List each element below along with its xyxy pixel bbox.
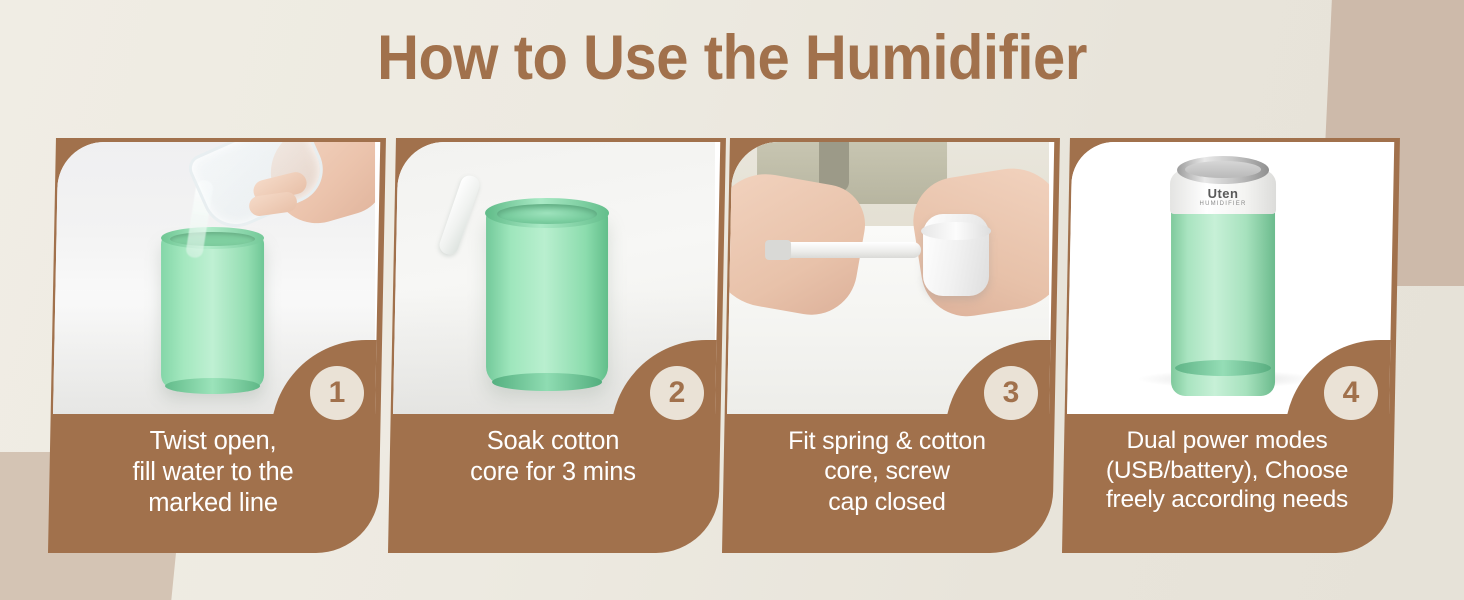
infographic-canvas: How to Use the Humidifier xyxy=(0,0,1464,600)
step-card-1: 1 Twist open, fill water to the marked l… xyxy=(48,138,378,553)
product-lid-inner xyxy=(1185,161,1261,178)
humidifier-cup xyxy=(161,234,264,389)
step-number-badge: 4 xyxy=(1324,366,1378,420)
product-base xyxy=(1175,360,1271,376)
cup-base xyxy=(165,378,260,394)
product-brand-label: Uten xyxy=(1170,186,1276,201)
core-tip xyxy=(765,240,791,260)
cotton-core-stick xyxy=(771,242,921,258)
cap-ring xyxy=(921,222,991,240)
step-caption-text: Fit spring & cotton core, screw cap clos… xyxy=(732,426,1042,517)
step-caption-text: Twist open, fill water to the marked lin… xyxy=(58,426,368,519)
cup-opening xyxy=(170,232,255,246)
page-title: How to Use the Humidifier xyxy=(59,22,1406,94)
step-number-badge: 3 xyxy=(984,366,1038,420)
step-caption-text: Dual power modes (USB/battery), Choose f… xyxy=(1066,426,1388,515)
step-number-badge: 1 xyxy=(310,366,364,420)
cup-base xyxy=(492,373,602,391)
water-surface xyxy=(497,204,597,224)
step-card-2: 2 Soak cotton core for 3 mins xyxy=(388,138,718,553)
step-number-badge: 2 xyxy=(650,366,704,420)
step-card-4: Uten HUMIDIFIER 4 Dual power modes (USB/… xyxy=(1062,138,1392,553)
step-caption-text: Soak cotton core for 3 mins xyxy=(398,426,708,488)
humidifier-cup xyxy=(486,210,608,385)
product-sub-label: HUMIDIFIER xyxy=(1170,201,1276,207)
step-card-3: 3 Fit spring & cotton core, screw cap cl… xyxy=(722,138,1052,553)
